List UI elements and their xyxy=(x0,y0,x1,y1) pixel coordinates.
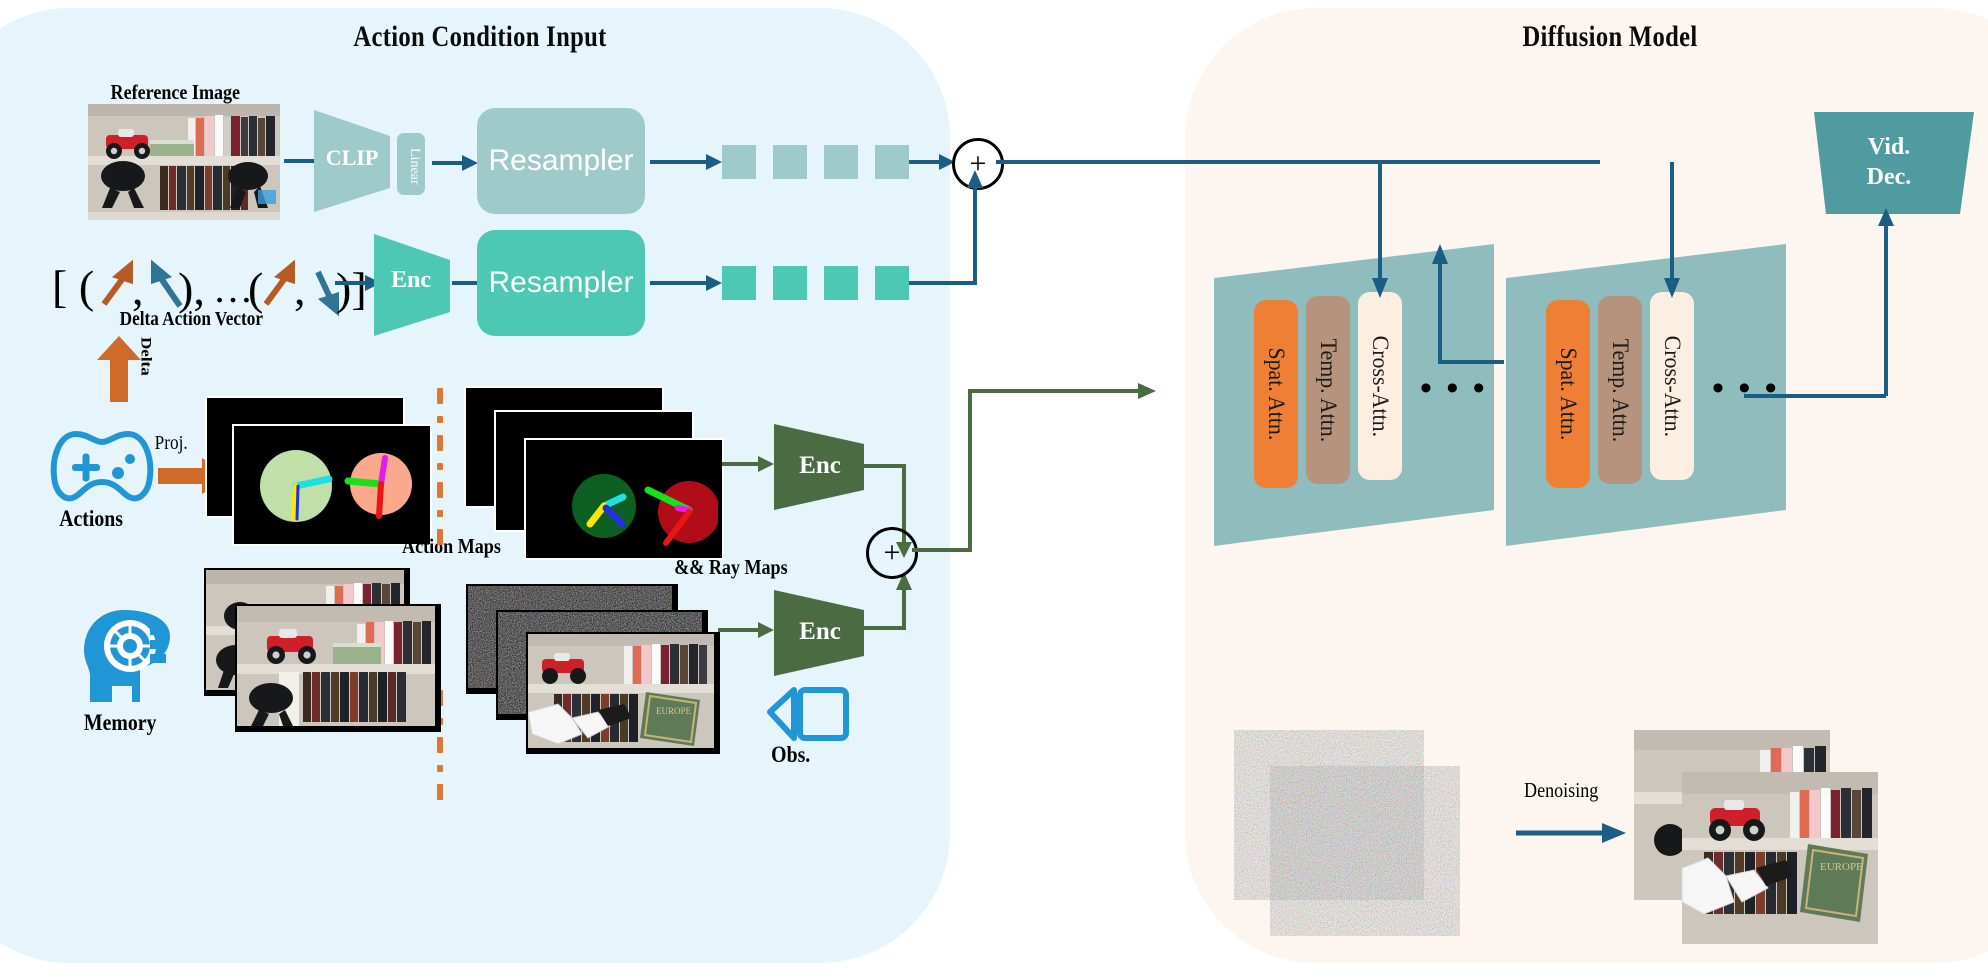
arrow-obs-to-enc xyxy=(718,618,774,642)
arrow-linear-to-resampler xyxy=(432,151,478,175)
image-token-1 xyxy=(722,145,756,179)
unet-up-temp-attn: Temp. Attn. xyxy=(1598,296,1642,484)
unet-down-cross-attn-label: Cross-Attn. xyxy=(1367,335,1393,436)
panel-title-diffusion-model: Diffusion Model xyxy=(1438,20,1782,54)
reference-image-photo xyxy=(88,104,280,220)
unet-down-spat-attn-label: Spat. Attn. xyxy=(1263,348,1289,441)
gamepad-icon xyxy=(48,428,156,506)
video-decoder-line2: Dec. xyxy=(1830,162,1948,192)
resampler-action-label: Resampler xyxy=(488,266,633,300)
unet-down-cross-attn: Cross-Attn. xyxy=(1358,292,1402,480)
ray-maps-label: && Ray Maps xyxy=(674,555,787,580)
arrow-skip-connection xyxy=(1430,240,1520,370)
memory-frame-front xyxy=(235,604,441,732)
arrow-raymaps-to-enc xyxy=(722,452,774,476)
arrow-action-tokens-to-sum xyxy=(909,160,989,290)
unet-up-temp-attn-label: Temp. Attn. xyxy=(1607,338,1633,441)
clip-label: CLIP xyxy=(320,145,384,171)
unet-up-spat-attn: Spat. Attn. xyxy=(1546,300,1590,488)
obs-label: Obs. xyxy=(771,742,810,768)
svg-text:[ (: [ ( xyxy=(52,261,94,312)
image-token-3 xyxy=(824,145,858,179)
arrow-resampler-to-action-tokens xyxy=(650,271,722,295)
proj-label: Proj. xyxy=(155,432,188,455)
linear-label: Linear xyxy=(400,140,422,192)
conditioning-bus-lines xyxy=(996,150,1636,310)
conditioning-branch-to-up-block xyxy=(1660,150,1690,310)
unet-down-temp-attn: Temp. Attn. xyxy=(1306,296,1350,484)
actions-label: Actions xyxy=(59,506,123,532)
svg-text:(: ( xyxy=(248,263,263,314)
enc-raymap-label: Enc xyxy=(778,452,862,480)
image-token-4 xyxy=(875,145,909,179)
ray-map-frame-front xyxy=(524,438,724,560)
separator-dashes-upper xyxy=(437,388,443,568)
memory-label: Memory xyxy=(84,710,156,736)
unet-up-cross-attn-label: Cross-Attn. xyxy=(1659,335,1685,436)
unet-down-ellipsis: • • • xyxy=(1420,370,1488,408)
image-token-2 xyxy=(773,145,807,179)
action-map-frame-front xyxy=(232,424,432,546)
denoising-label: Denoising xyxy=(1524,778,1598,803)
svg-text:EUROPE: EUROPE xyxy=(656,706,692,716)
delta-arrow-label: Delta xyxy=(137,337,154,376)
resampler-image-block: Resampler xyxy=(477,108,645,214)
resampler-action-block: Resampler xyxy=(477,230,645,336)
unet-up-cross-attn: Cross-Attn. xyxy=(1650,292,1694,480)
enc-obs-label: Enc xyxy=(778,618,862,646)
action-token-4 xyxy=(875,266,909,300)
latent-fusion-plus-symbol: + xyxy=(884,538,901,568)
enc-action-label: Enc xyxy=(378,267,444,294)
camera-icon xyxy=(764,686,850,742)
video-decoder-labels: Vid. Dec. xyxy=(1830,132,1948,192)
arrow-resampler-to-image-tokens xyxy=(650,150,722,174)
noisy-output-stack xyxy=(1234,730,1486,960)
svg-text:EUROPE: EUROPE xyxy=(1820,861,1863,873)
unet-down-temp-attn-label: Temp. Attn. xyxy=(1315,338,1341,441)
delta-arrow-up xyxy=(97,336,141,402)
arrow-unet-to-video-decoder xyxy=(1716,200,1906,400)
denoising-arrow xyxy=(1516,820,1626,846)
clean-output-stack: EUROPE xyxy=(1634,730,1896,960)
svg-text:,: , xyxy=(294,263,306,314)
action-maps-label: Action Maps xyxy=(402,534,501,559)
action-token-2 xyxy=(773,266,807,300)
resampler-image-label: Resampler xyxy=(488,144,633,178)
action-token-1 xyxy=(722,266,756,300)
svg-text:),: ), xyxy=(178,263,205,314)
memory-brain-icon xyxy=(78,606,174,706)
unet-up-spat-attn-label: Spat. Attn. xyxy=(1555,348,1581,441)
arrow-fusion-to-unet xyxy=(908,375,1168,565)
observation-frame-front: EUROPE xyxy=(526,632,720,754)
svg-text:,: , xyxy=(132,263,144,314)
panel-title-action-condition-input: Action Condition Input xyxy=(275,20,685,54)
action-token-3 xyxy=(824,266,858,300)
delta-action-vector-caption: Delta Action Vector xyxy=(120,308,263,331)
reference-image-label: Reference Image xyxy=(111,80,241,105)
video-decoder-line1: Vid. xyxy=(1830,132,1948,162)
unet-down-spat-attn: Spat. Attn. xyxy=(1254,300,1298,488)
svg-text:…: … xyxy=(213,266,253,311)
